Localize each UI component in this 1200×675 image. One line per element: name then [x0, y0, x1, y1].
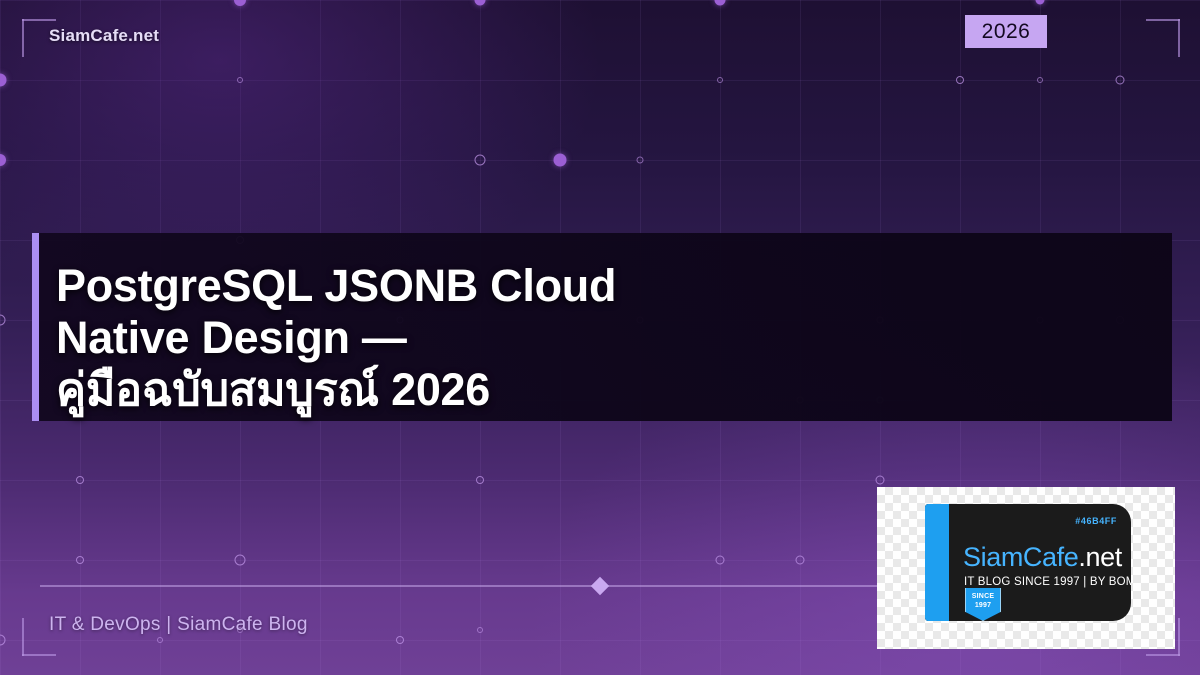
grid-node [876, 476, 885, 485]
grid-node [1037, 77, 1043, 83]
grid-node [76, 556, 84, 564]
footer-divider [40, 585, 878, 587]
grid-node [477, 627, 483, 633]
year-badge: 2026 [965, 15, 1047, 48]
logo-blue-bar [925, 504, 949, 621]
grid-node [475, 155, 486, 166]
site-brand: SiamCafe.net [49, 26, 159, 46]
hero-banner: SiamCafe.net 2026 PostgreSQL JSONB Cloud… [0, 0, 1200, 675]
page-title: PostgreSQL JSONB Cloud Native Design — ค… [56, 260, 1146, 416]
since-ribbon-icon: SINCE 1997 [965, 588, 1001, 621]
logo-hex-label: #46B4FF [1075, 516, 1117, 526]
grid-node [235, 555, 246, 566]
grid-node [476, 476, 484, 484]
footer-caption: IT & DevOps | SiamCafe Blog [49, 614, 308, 636]
grid-node [796, 556, 805, 565]
logo-wordmark-white: .net [1078, 542, 1121, 572]
ribbon-line-2: 1997 [966, 602, 1000, 611]
logo-inner-panel: #46B4FF SiamCafe.net IT BLOG SINCE 1997 … [925, 504, 1131, 621]
title-accent-bar [32, 233, 39, 421]
grid-node [396, 636, 404, 644]
grid-node [76, 476, 84, 484]
grid-node [637, 157, 644, 164]
logo-wordmark-blue: SiamCafe [963, 542, 1078, 572]
grid-node [237, 77, 243, 83]
ribbon-line-1: SINCE [966, 593, 1000, 602]
grid-node [157, 637, 163, 643]
grid-node [717, 77, 723, 83]
logo-tagline: IT BLOG SINCE 1997 | BY BOM [964, 576, 1131, 588]
corner-bracket-top-right [1146, 19, 1180, 57]
grid-node [716, 556, 725, 565]
grid-node [956, 76, 964, 84]
logo-wordmark: SiamCafe.net [963, 542, 1122, 573]
grid-node [1116, 76, 1125, 85]
logo-card: #46B4FF SiamCafe.net IT BLOG SINCE 1997 … [877, 487, 1175, 649]
grid-node [554, 154, 567, 167]
